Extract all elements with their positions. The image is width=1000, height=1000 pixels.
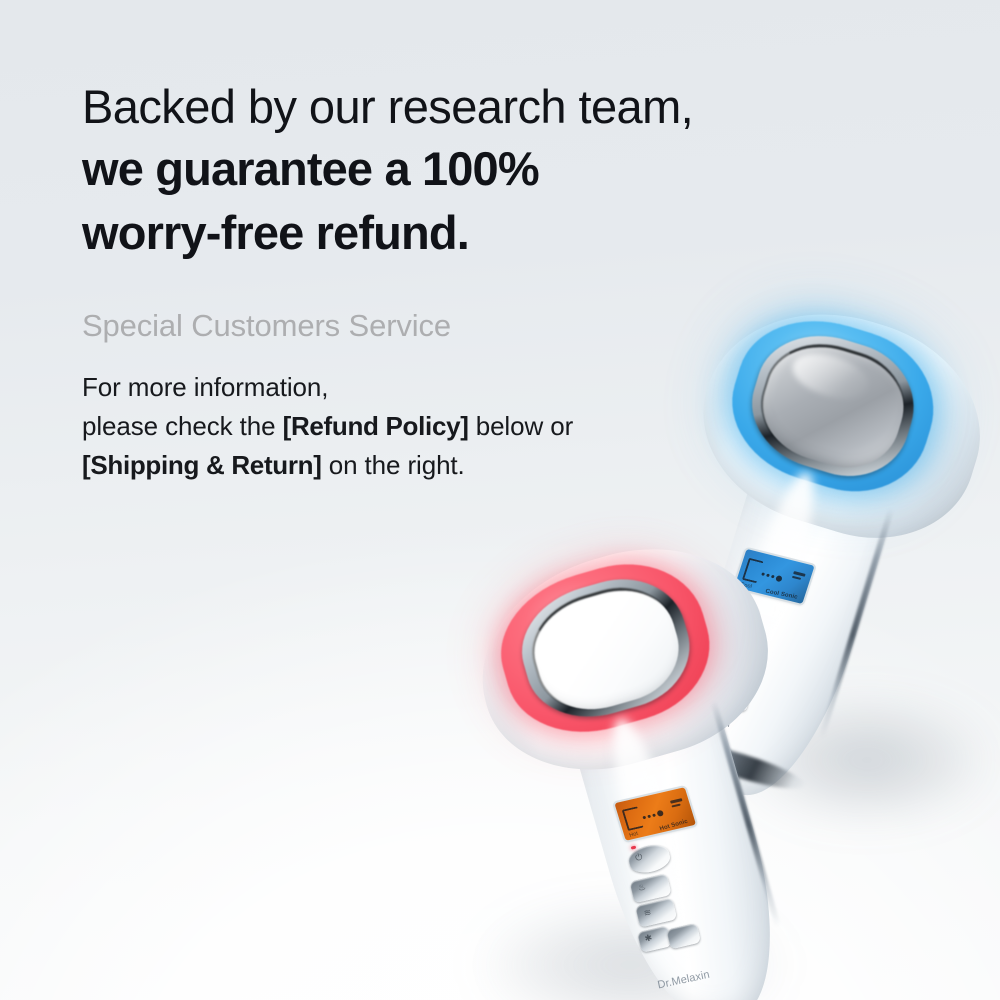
body-line-2: please check the [Refund Policy] below o… xyxy=(82,407,782,446)
body-line-3-suffix: on the right. xyxy=(322,450,465,480)
sparkle-icon: ✱ xyxy=(644,933,659,948)
body-line-2-suffix: below or xyxy=(469,411,574,441)
lcd-intensity-dots-icon xyxy=(642,810,664,820)
lcd-level-bars-icon xyxy=(792,571,806,581)
lcd-dot-active xyxy=(775,575,783,582)
heat-icon: ♨ xyxy=(637,881,655,897)
shipping-return-link[interactable]: [Shipping & Return] xyxy=(82,450,322,480)
promo-banner: Backed by our research team, we guarante… xyxy=(0,0,1000,1000)
lcd-bar xyxy=(672,803,682,807)
plate-gloss-highlight xyxy=(543,597,631,656)
mode-wave-button-red[interactable]: ≋ xyxy=(635,898,677,928)
device-red-chrome-bezel xyxy=(508,564,703,734)
refund-policy-link[interactable]: [Refund Policy] xyxy=(283,411,469,441)
device-red-head-shell xyxy=(456,520,790,798)
body-copy: For more information, please check the [… xyxy=(82,368,782,485)
body-line-3: [Shipping & Return] on the right. xyxy=(82,446,782,485)
mode-extra-button-red[interactable] xyxy=(666,923,700,950)
lcd-level-bars-icon xyxy=(670,798,684,807)
hot-glow-ring-icon xyxy=(484,545,727,753)
lcd-bracket-icon xyxy=(622,806,644,831)
plate-gloss-highlight xyxy=(787,346,873,406)
power-icon: ⏻ xyxy=(635,851,655,870)
heading-line-2: we guarantee a 100% xyxy=(82,137,782,201)
power-button-red[interactable]: ⏻ xyxy=(626,842,672,876)
mode-led-button-red[interactable]: ✱ xyxy=(638,926,672,953)
lcd-dot-active xyxy=(657,810,665,817)
wave-icon: ≋ xyxy=(643,906,661,922)
heading-line-1: Backed by our research team, xyxy=(82,76,782,137)
subheading: Special Customers Service xyxy=(82,308,782,344)
lcd-dot xyxy=(652,813,656,817)
heading-line-3: worry-free refund. xyxy=(82,201,782,265)
device-red-treatment-plate[interactable] xyxy=(520,574,690,723)
page-title: Backed by our research team, we guarante… xyxy=(82,76,782,266)
lcd-left-label-red: Hot xyxy=(629,831,640,839)
lcd-dot xyxy=(761,573,765,577)
led-indicator-icon xyxy=(631,846,637,850)
body-line-1: For more information, xyxy=(82,368,782,407)
body-line-1-text: For more information, xyxy=(82,372,328,402)
copy-block: Backed by our research team, we guarante… xyxy=(82,76,782,485)
lcd-dot xyxy=(771,575,775,579)
lcd-dot xyxy=(642,816,646,820)
lcd-dot xyxy=(766,574,770,578)
lcd-intensity-dots-icon xyxy=(761,571,783,582)
lcd-bar xyxy=(792,576,802,581)
lcd-bar xyxy=(670,798,682,803)
lcd-dot xyxy=(647,815,651,819)
body-line-2-prefix: please check the xyxy=(82,411,283,441)
